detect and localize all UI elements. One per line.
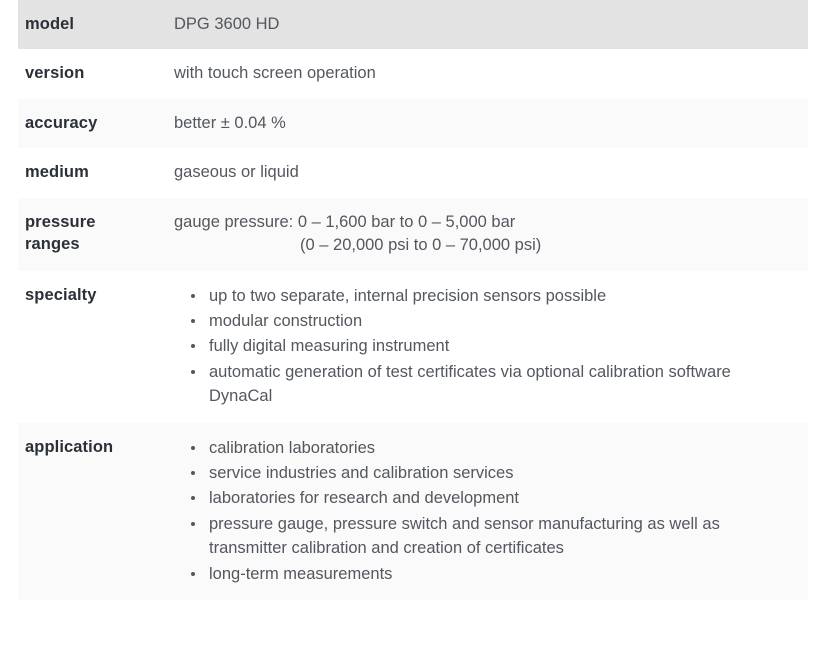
spec-value-line: DPG 3600 HD — [174, 13, 794, 36]
bullet-dot-icon — [191, 294, 195, 298]
spec-label-version: version — [18, 49, 172, 98]
spec-value-medium: gaseous or liquid — [172, 148, 808, 197]
spec-value-version: with touch screen operation — [172, 49, 808, 98]
list-item: up to two separate, internal precision s… — [174, 284, 794, 308]
list-item-text: up to two separate, internal precision s… — [209, 287, 606, 305]
list-item: laboratories for research and developmen… — [174, 486, 794, 510]
spec-value-line-psi: (0 – 20,000 psi to 0 – 70,000 psi) — [174, 234, 794, 257]
bullet-dot-icon — [191, 471, 195, 475]
application-bullet-list: calibration laboratories service industr… — [174, 436, 794, 586]
list-item-text: long-term measurements — [209, 565, 392, 583]
list-item-text: calibration laboratories — [209, 439, 375, 457]
spec-value-line: gaseous or liquid — [174, 161, 794, 184]
table-row-model: model DPG 3600 HD — [18, 0, 808, 49]
spec-label-accuracy: accuracy — [18, 99, 172, 148]
list-item: long-term measurements — [174, 562, 794, 586]
spec-label-specialty: specialty — [18, 271, 172, 423]
list-item: automatic generation of test certificate… — [174, 360, 794, 409]
list-item: calibration laboratories — [174, 436, 794, 460]
spec-value-line: with touch screen operation — [174, 62, 794, 85]
specialty-bullet-list: up to two separate, internal precision s… — [174, 284, 794, 409]
spec-label-medium: medium — [18, 148, 172, 197]
spec-label-line: pressure — [25, 213, 96, 231]
spec-label-model: model — [18, 0, 172, 49]
bullet-dot-icon — [191, 572, 195, 576]
list-item-text: automatic generation of test certificate… — [209, 363, 731, 405]
spec-value-model: DPG 3600 HD — [172, 0, 808, 49]
list-item-text: laboratories for research and developmen… — [209, 489, 519, 507]
list-item-text: service industries and calibration servi… — [209, 464, 513, 482]
table-row-medium: medium gaseous or liquid — [18, 148, 808, 197]
list-item: service industries and calibration servi… — [174, 461, 794, 485]
spec-table-body: model DPG 3600 HD version with touch scr… — [18, 0, 808, 600]
bullet-dot-icon — [191, 344, 195, 348]
list-item-text: pressure gauge, pressure switch and sens… — [209, 515, 720, 557]
table-row-version: version with touch screen operation — [18, 49, 808, 98]
spec-label-line: ranges — [25, 235, 80, 253]
product-specification-table: model DPG 3600 HD version with touch scr… — [18, 0, 808, 600]
spec-value-accuracy: better ± 0.04 % — [172, 99, 808, 148]
spec-value-application: calibration laboratories service industr… — [172, 423, 808, 600]
spec-value-pressure-ranges: gauge pressure: 0 – 1,600 bar to 0 – 5,0… — [172, 198, 808, 271]
list-item: pressure gauge, pressure switch and sens… — [174, 512, 794, 561]
spec-value-line: better ± 0.04 % — [174, 112, 794, 135]
spec-value-line-bar: gauge pressure: 0 – 1,600 bar to 0 – 5,0… — [174, 211, 794, 234]
list-item: fully digital measuring instrument — [174, 334, 794, 358]
list-item-text: fully digital measuring instrument — [209, 337, 449, 355]
bullet-dot-icon — [191, 319, 195, 323]
bullet-dot-icon — [191, 496, 195, 500]
table-row-pressure-ranges: pressure ranges gauge pressure: 0 – 1,60… — [18, 198, 808, 271]
bullet-dot-icon — [191, 522, 195, 526]
bullet-dot-icon — [191, 446, 195, 450]
spec-value-specialty: up to two separate, internal precision s… — [172, 271, 808, 423]
spec-label-application: application — [18, 423, 172, 600]
bullet-dot-icon — [191, 370, 195, 374]
list-item-text: modular construction — [209, 312, 362, 330]
spec-label-pressure-ranges: pressure ranges — [18, 198, 172, 271]
table-row-accuracy: accuracy better ± 0.04 % — [18, 99, 808, 148]
table-row-application: application calibration laboratories ser… — [18, 423, 808, 600]
list-item: modular construction — [174, 309, 794, 333]
table-row-specialty: specialty up to two separate, internal p… — [18, 271, 808, 423]
